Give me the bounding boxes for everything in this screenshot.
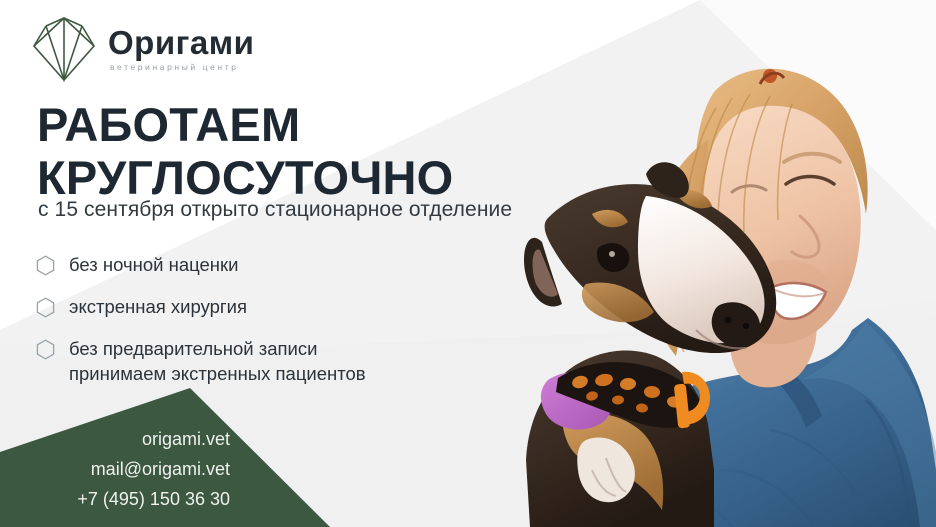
hexagon-outline-icon xyxy=(36,339,55,360)
hexagon-outline-icon xyxy=(36,297,55,318)
brand-text: Оригами ветеринарный центр xyxy=(108,26,254,72)
brand-tagline: ветеринарный центр xyxy=(110,62,254,72)
contact-website[interactable]: origami.vet xyxy=(68,424,230,454)
headline-line-1: РАБОТАЕМ xyxy=(37,98,300,151)
contact-email[interactable]: mail@origami.vet xyxy=(68,454,230,484)
subtitle: с 15 сентября открыто стационарное отдел… xyxy=(38,198,512,222)
feature-line-1: без предварительной записи xyxy=(69,336,366,361)
list-item: без предварительной записи принимаем экс… xyxy=(36,336,366,386)
veterinarian-holding-dog-photo xyxy=(470,0,936,527)
list-item-text: без ночной наценки xyxy=(69,252,238,277)
brand-name: Оригами xyxy=(108,26,254,59)
hexagon-outline-icon xyxy=(36,255,55,276)
origami-diamond-icon xyxy=(30,14,98,84)
page-title: РАБОТАЕМ КРУГЛОСУТОЧНО xyxy=(37,98,453,204)
list-item: экстренная хирургия xyxy=(36,294,366,319)
contact-info: origami.vet mail@origami.vet +7 (495) 15… xyxy=(68,424,230,514)
feature-list: без ночной наценки экстренная хирургия б… xyxy=(36,252,366,386)
dog-eye-glint xyxy=(609,251,615,257)
list-item-text: без предварительной записи принимаем экс… xyxy=(69,336,366,386)
brand-logo[interactable]: Оригами ветеринарный центр xyxy=(30,14,254,84)
headline-line-2: КРУГЛОСУТОЧНО xyxy=(37,151,453,204)
promo-banner: origami.vet mail@origami.vet +7 (495) 15… xyxy=(0,0,936,527)
feature-line-1: без ночной наценки xyxy=(69,252,238,277)
feature-line-2: принимаем экстренных пациентов xyxy=(69,361,366,386)
list-item-text: экстренная хирургия xyxy=(69,294,247,319)
feature-line-1: экстренная хирургия xyxy=(69,294,247,319)
contact-phone[interactable]: +7 (495) 150 36 30 xyxy=(68,484,230,514)
dog-nostril-a xyxy=(725,317,731,323)
list-item: без ночной наценки xyxy=(36,252,366,277)
dog-nostril-b xyxy=(743,323,749,329)
